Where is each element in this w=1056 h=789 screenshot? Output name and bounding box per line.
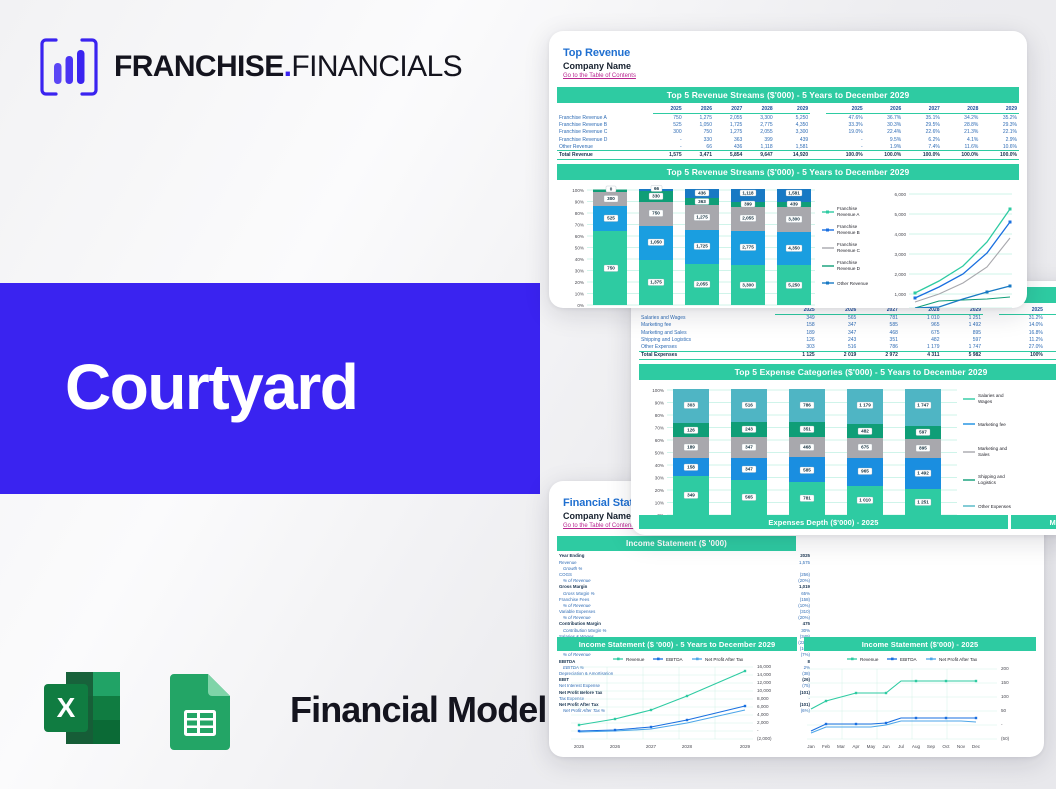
format-label: Financial Model xyxy=(290,689,547,731)
svg-text:1,725: 1,725 xyxy=(696,243,708,248)
revenue-company-name: Company Name xyxy=(563,61,1027,73)
svg-text:Revenue C: Revenue C xyxy=(837,248,861,253)
svg-text:50%: 50% xyxy=(575,245,584,250)
revenue-chart-legend: FranchiseRevenue A FranchiseRevenue B Fr… xyxy=(822,206,869,286)
revenue-line-chart: 6,0005,0004,000 3,0002,0001,000 xyxy=(895,192,1013,308)
svg-text:10%: 10% xyxy=(655,500,664,505)
svg-text:40%: 40% xyxy=(575,257,584,262)
svg-text:675: 675 xyxy=(861,444,869,449)
svg-text:482: 482 xyxy=(861,428,869,433)
svg-text:Revenue: Revenue xyxy=(860,657,879,662)
col-2028-pct: 2028 xyxy=(942,106,981,114)
svg-text:2025: 2025 xyxy=(574,744,585,749)
svg-text:6,000: 6,000 xyxy=(895,192,907,197)
svg-text:158: 158 xyxy=(687,464,695,469)
revenue-charts: 100%90%80% 70%60%50% 40%30%20% 10%0% 750… xyxy=(557,182,1019,308)
svg-text:Aug: Aug xyxy=(912,744,921,749)
svg-text:100%: 100% xyxy=(572,188,584,193)
svg-text:Marketing fee: Marketing fee xyxy=(978,422,1006,427)
svg-text:12,000: 12,000 xyxy=(757,680,771,685)
table-row: Franchise Revenue A 750 1,275 2,055 3,30… xyxy=(557,114,1019,122)
svg-text:Mar: Mar xyxy=(837,744,845,749)
svg-text:750: 750 xyxy=(607,265,615,270)
revenue-sheet-title: Top Revenue xyxy=(563,47,1027,61)
svg-text:Shipping and: Shipping and xyxy=(978,474,1005,479)
svg-text:14,000: 14,000 xyxy=(757,672,771,677)
finstat-left-chart-banner: Income Statement ($ '000) - 5 Years to D… xyxy=(557,637,797,651)
svg-text:EBITDA: EBITDA xyxy=(666,657,684,662)
svg-text:1,050: 1,050 xyxy=(650,239,662,244)
svg-text:100: 100 xyxy=(1001,694,1009,699)
bar-chart-bracket-icon xyxy=(38,36,100,98)
svg-text:1 747: 1 747 xyxy=(917,402,929,407)
svg-text:303: 303 xyxy=(687,402,695,407)
col-2029-a: 2029 xyxy=(775,106,810,114)
svg-text:50: 50 xyxy=(1001,708,1007,713)
svg-text:30%: 30% xyxy=(575,268,584,273)
svg-text:1,375: 1,375 xyxy=(650,279,662,284)
expenses-monthly-banner: Monthly xyxy=(1011,515,1056,529)
microsoft-excel-icon: X xyxy=(38,666,126,754)
svg-text:2,775: 2,775 xyxy=(742,244,754,249)
svg-text:2,000: 2,000 xyxy=(895,272,907,277)
svg-text:May: May xyxy=(867,744,876,749)
svg-text:0%: 0% xyxy=(577,303,584,308)
svg-text:70%: 70% xyxy=(655,425,664,430)
svg-text:X: X xyxy=(57,692,76,723)
table-total-row: Total Revenue 1,575 3,471 5,854 9,647 14… xyxy=(557,151,1019,159)
svg-text:Feb: Feb xyxy=(822,744,830,749)
svg-text:Other Revenue: Other Revenue xyxy=(837,281,869,286)
revenue-table: 2025 2026 2027 2028 2029 2025 2026 2027 … xyxy=(557,106,1019,160)
table-row: Shipping and Logistics 126 243 351 482 5… xyxy=(639,336,1056,343)
table-row: Franchise Revenue C 300 750 1,275 2,055 … xyxy=(557,129,1019,136)
svg-text:Marketing and: Marketing and xyxy=(978,446,1008,451)
revenue-toc-link[interactable]: Go to the Table of Contents xyxy=(563,72,1027,80)
svg-text:1 492: 1 492 xyxy=(917,470,929,475)
svg-text:468: 468 xyxy=(803,444,811,449)
svg-text:66: 66 xyxy=(654,185,660,190)
finstat-right-chart-banner: Income Statement ($'000) - 2025 xyxy=(804,637,1036,651)
svg-text:50%: 50% xyxy=(655,450,664,455)
svg-text:2028: 2028 xyxy=(682,744,693,749)
svg-text:70%: 70% xyxy=(575,222,584,227)
svg-text:2026: 2026 xyxy=(610,744,621,749)
svg-text:(50): (50) xyxy=(1001,736,1010,741)
svg-text:4,000: 4,000 xyxy=(757,712,769,717)
svg-text:Revenue D: Revenue D xyxy=(837,266,861,271)
svg-text:965: 965 xyxy=(861,468,869,473)
svg-text:Net Profit After Tax: Net Profit After Tax xyxy=(939,657,978,662)
svg-text:8,000: 8,000 xyxy=(757,696,769,701)
svg-text:200: 200 xyxy=(1001,666,1009,671)
svg-text:Nov: Nov xyxy=(957,744,966,749)
svg-text:895: 895 xyxy=(919,445,927,450)
table-row: Salaries and Wages 349 565 781 1 010 1 2… xyxy=(639,314,1056,322)
svg-text:1,118: 1,118 xyxy=(742,190,754,195)
svg-text:363: 363 xyxy=(698,198,706,203)
svg-text:Other Expenses: Other Expenses xyxy=(978,504,1012,509)
expense-chart-legend: Salaries andWages Marketing fee Marketin… xyxy=(963,393,1012,509)
svg-text:Jul: Jul xyxy=(898,744,904,749)
revenue-sheet-header: Top Revenue Company Name Go to the Table… xyxy=(549,31,1027,81)
expense-table: 2025 2026 2027 2028 2029 2025 2026 Salar… xyxy=(639,306,1056,360)
svg-text:781: 781 xyxy=(803,495,811,500)
income-statement-5y-chart: Revenue EBITDA Net Profit After Tax xyxy=(571,657,772,749)
col-2027-a: 2027 xyxy=(714,106,744,114)
svg-text:1,581: 1,581 xyxy=(788,190,800,195)
svg-text:300: 300 xyxy=(607,196,615,201)
card-top-expenses[interactable]: Top 5 Expense Categories ($'000) - 5 Yea… xyxy=(631,281,1056,535)
expense-chart-banner: Top 5 Expense Categories ($'000) - 5 Yea… xyxy=(639,364,1056,380)
svg-text:3,300: 3,300 xyxy=(788,216,800,221)
svg-text:Revenue A: Revenue A xyxy=(837,212,860,217)
col-2029-pct: 2029 xyxy=(980,106,1019,114)
svg-text:Franchise: Franchise xyxy=(837,206,858,211)
svg-text:1,275: 1,275 xyxy=(696,214,708,219)
svg-text:Dec: Dec xyxy=(972,744,981,749)
svg-text:0: 0 xyxy=(610,186,613,191)
svg-text:EBITDA: EBITDA xyxy=(900,657,918,662)
svg-text:Net Profit After Tax: Net Profit After Tax xyxy=(705,657,744,662)
svg-text:Apr: Apr xyxy=(852,744,860,749)
svg-text:20%: 20% xyxy=(575,280,584,285)
svg-text:100%: 100% xyxy=(652,388,664,393)
svg-text:Wages: Wages xyxy=(978,399,993,404)
svg-text:347: 347 xyxy=(745,444,753,449)
svg-text:10,000: 10,000 xyxy=(757,688,771,693)
income-statement-2025-chart: Revenue EBITDA Net Profit After Tax xyxy=(807,657,1010,749)
table-row: Franchise Revenue D - 330 363 399 439 - … xyxy=(557,136,1019,143)
svg-text:349: 349 xyxy=(687,492,695,497)
svg-text:10%: 10% xyxy=(575,291,584,296)
col-2028-a: 2028 xyxy=(744,106,774,114)
svg-text:2027: 2027 xyxy=(646,744,657,749)
svg-text:2,000: 2,000 xyxy=(757,720,769,725)
svg-text:Franchise: Franchise xyxy=(837,260,858,265)
svg-text:3,300: 3,300 xyxy=(742,282,754,287)
google-sheets-icon xyxy=(156,666,244,754)
svg-text:90%: 90% xyxy=(655,400,664,405)
svg-text:597: 597 xyxy=(919,429,927,434)
svg-text:60%: 60% xyxy=(655,438,664,443)
svg-text:Franchise: Franchise xyxy=(837,224,858,229)
svg-text:5,250: 5,250 xyxy=(788,282,800,287)
svg-text:565: 565 xyxy=(745,494,753,499)
svg-text:40%: 40% xyxy=(655,463,664,468)
svg-text:3,000: 3,000 xyxy=(895,252,907,257)
table-row: Marketing and Sales 189 347 468 675 895 … xyxy=(639,329,1056,336)
svg-text:2,055: 2,055 xyxy=(742,215,754,220)
svg-text:5,000: 5,000 xyxy=(895,212,907,217)
svg-text:Oct: Oct xyxy=(942,744,950,749)
finstat-charts: Revenue EBITDA Net Profit After Tax xyxy=(557,653,1036,753)
brand-wordmark: FRANCHISE.FINANCIALS xyxy=(114,50,462,84)
svg-text:80%: 80% xyxy=(655,413,664,418)
col-2025-pct: 2025 xyxy=(826,106,865,114)
revenue-table-banner: Top 5 Revenue Streams ($'000) - 5 Years … xyxy=(557,87,1019,103)
finstat-table-banner: Income Statement ($ '000) xyxy=(557,536,796,551)
brand-name-light: FINANCIALS xyxy=(291,50,462,83)
svg-text:516: 516 xyxy=(745,402,753,407)
svg-text:30%: 30% xyxy=(655,475,664,480)
svg-text:2,055: 2,055 xyxy=(696,281,708,286)
svg-text:Revenue: Revenue xyxy=(626,657,645,662)
svg-text:60%: 60% xyxy=(575,234,584,239)
svg-text:786: 786 xyxy=(803,402,811,407)
card-top-revenue[interactable]: Top Revenue Company Name Go to the Table… xyxy=(549,31,1027,308)
svg-text:Logistics: Logistics xyxy=(978,480,997,485)
svg-text:Salaries and: Salaries and xyxy=(978,393,1004,398)
col-2026-pct: 2026 xyxy=(865,106,904,114)
expense-charts: 100%90%80% 70%60%50% 40%30%20% 10%0% 349… xyxy=(639,382,1056,534)
svg-text:Sep: Sep xyxy=(927,744,936,749)
table-row: Other Expenses 303 516 786 1 179 1 747 2… xyxy=(639,343,1056,351)
col-2025-a: 2025 xyxy=(653,106,683,114)
table-header-row: 2025 2026 2027 2028 2029 2025 2026 2027 … xyxy=(557,106,1019,114)
svg-text:189: 189 xyxy=(687,444,695,449)
svg-text:2029: 2029 xyxy=(740,744,751,749)
expense-stacked-bar-chart: 100%90%80% 70%60%50% 40%30%20% 10%0% 349… xyxy=(652,388,957,525)
svg-text:Sales: Sales xyxy=(978,452,990,457)
format-row: X Financial Model xyxy=(38,666,547,754)
col-2026-a: 2026 xyxy=(684,106,714,114)
svg-text:80%: 80% xyxy=(575,211,584,216)
svg-text:243: 243 xyxy=(745,426,753,431)
svg-text:Jun: Jun xyxy=(882,744,890,749)
expenses-depth-banner: Expenses Depth ($'000) - 2025 xyxy=(639,515,1008,529)
svg-text:1 251: 1 251 xyxy=(917,499,929,504)
svg-text:585: 585 xyxy=(803,467,811,472)
exp-col-2026-pct: 2026 xyxy=(1045,306,1056,314)
svg-text:Franchise: Franchise xyxy=(837,242,858,247)
table-total-row: Total Expenses 1 125 2 019 2 972 4 311 5… xyxy=(639,351,1056,359)
table-row: Marketing fee 158 347 585 965 1 492 14.0… xyxy=(639,322,1056,329)
svg-text:1 179: 1 179 xyxy=(859,402,871,407)
col-2027-pct: 2027 xyxy=(903,106,942,114)
svg-text:90%: 90% xyxy=(575,199,584,204)
svg-text:439: 439 xyxy=(790,201,798,206)
svg-text:(2,000): (2,000) xyxy=(757,736,772,741)
svg-text:750: 750 xyxy=(652,210,660,215)
svg-text:347: 347 xyxy=(745,466,753,471)
table-row: Other Revenue - 66 436 1,118 1,581 - 1.9… xyxy=(557,143,1019,151)
svg-text:330: 330 xyxy=(652,193,660,198)
svg-text:-: - xyxy=(757,728,759,733)
revenue-stacked-bar-chart: 100%90%80% 70%60%50% 40%30%20% 10%0% 750… xyxy=(572,185,815,308)
svg-text:6,000: 6,000 xyxy=(757,704,769,709)
table-row: Franchise Revenue B 525 1,050 1,725 2,77… xyxy=(557,122,1019,129)
svg-text:Revenue B: Revenue B xyxy=(837,230,860,235)
svg-text:126: 126 xyxy=(687,427,695,432)
page-title: Courtyard xyxy=(65,355,357,419)
svg-text:4,350: 4,350 xyxy=(788,245,800,250)
svg-text:525: 525 xyxy=(607,215,615,220)
brand-name-bold: FRANCHISE xyxy=(114,50,284,83)
svg-text:399: 399 xyxy=(744,201,752,206)
svg-text:-: - xyxy=(1001,722,1003,727)
svg-text:20%: 20% xyxy=(655,488,664,493)
svg-text:436: 436 xyxy=(698,190,706,195)
svg-text:1 010: 1 010 xyxy=(859,497,871,502)
revenue-chart-banner: Top 5 Revenue Streams ($'000) - 5 Years … xyxy=(557,164,1019,180)
svg-text:150: 150 xyxy=(1001,680,1009,685)
svg-text:351: 351 xyxy=(803,426,811,431)
svg-text:1,000: 1,000 xyxy=(895,292,907,297)
svg-text:16,000: 16,000 xyxy=(757,664,771,669)
svg-text:4,000: 4,000 xyxy=(895,232,907,237)
svg-text:Jan: Jan xyxy=(807,744,815,749)
brand-logo: FRANCHISE.FINANCIALS xyxy=(38,36,462,98)
